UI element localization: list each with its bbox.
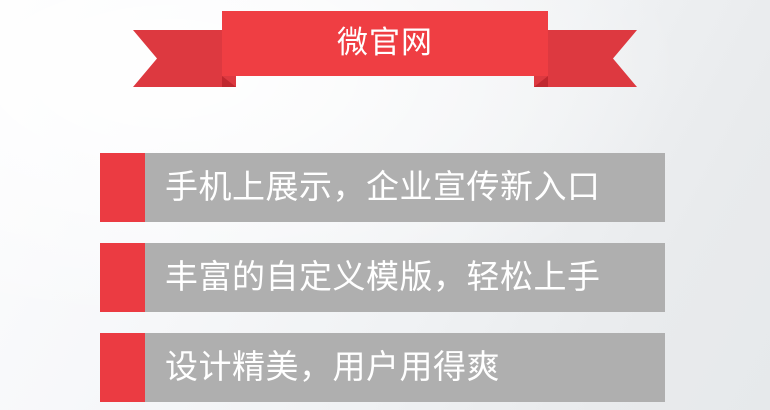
feature-marker-block [100, 243, 145, 312]
list-item: 设计精美，用户用得爽 [100, 333, 665, 402]
feature-label: 设计精美，用户用得爽 [165, 350, 500, 383]
ribbon-panel: 微官网 [222, 11, 548, 76]
ribbon-banner: 微官网 [133, 11, 637, 91]
feature-bar: 手机上展示，企业宣传新入口 [145, 153, 665, 222]
feature-bar: 设计精美，用户用得爽 [145, 333, 665, 402]
feature-label: 手机上展示，企业宣传新入口 [165, 170, 601, 203]
ribbon-tail-right-icon [534, 30, 637, 87]
feature-list: 手机上展示，企业宣传新入口 丰富的自定义模版，轻松上手 设计精美，用户用得爽 [100, 153, 665, 410]
ribbon-tail-left-icon [133, 30, 236, 87]
list-item: 手机上展示，企业宣传新入口 [100, 153, 665, 222]
page-title: 微官网 [337, 27, 433, 58]
list-item: 丰富的自定义模版，轻松上手 [100, 243, 665, 312]
feature-bar: 丰富的自定义模版，轻松上手 [145, 243, 665, 312]
feature-marker-block [100, 333, 145, 402]
promo-banner-stage: 微官网 手机上展示，企业宣传新入口 丰富的自定义模版，轻松上手 设计精美，用户用… [0, 0, 770, 410]
feature-marker-block [100, 153, 145, 222]
feature-label: 丰富的自定义模版，轻松上手 [165, 260, 601, 293]
